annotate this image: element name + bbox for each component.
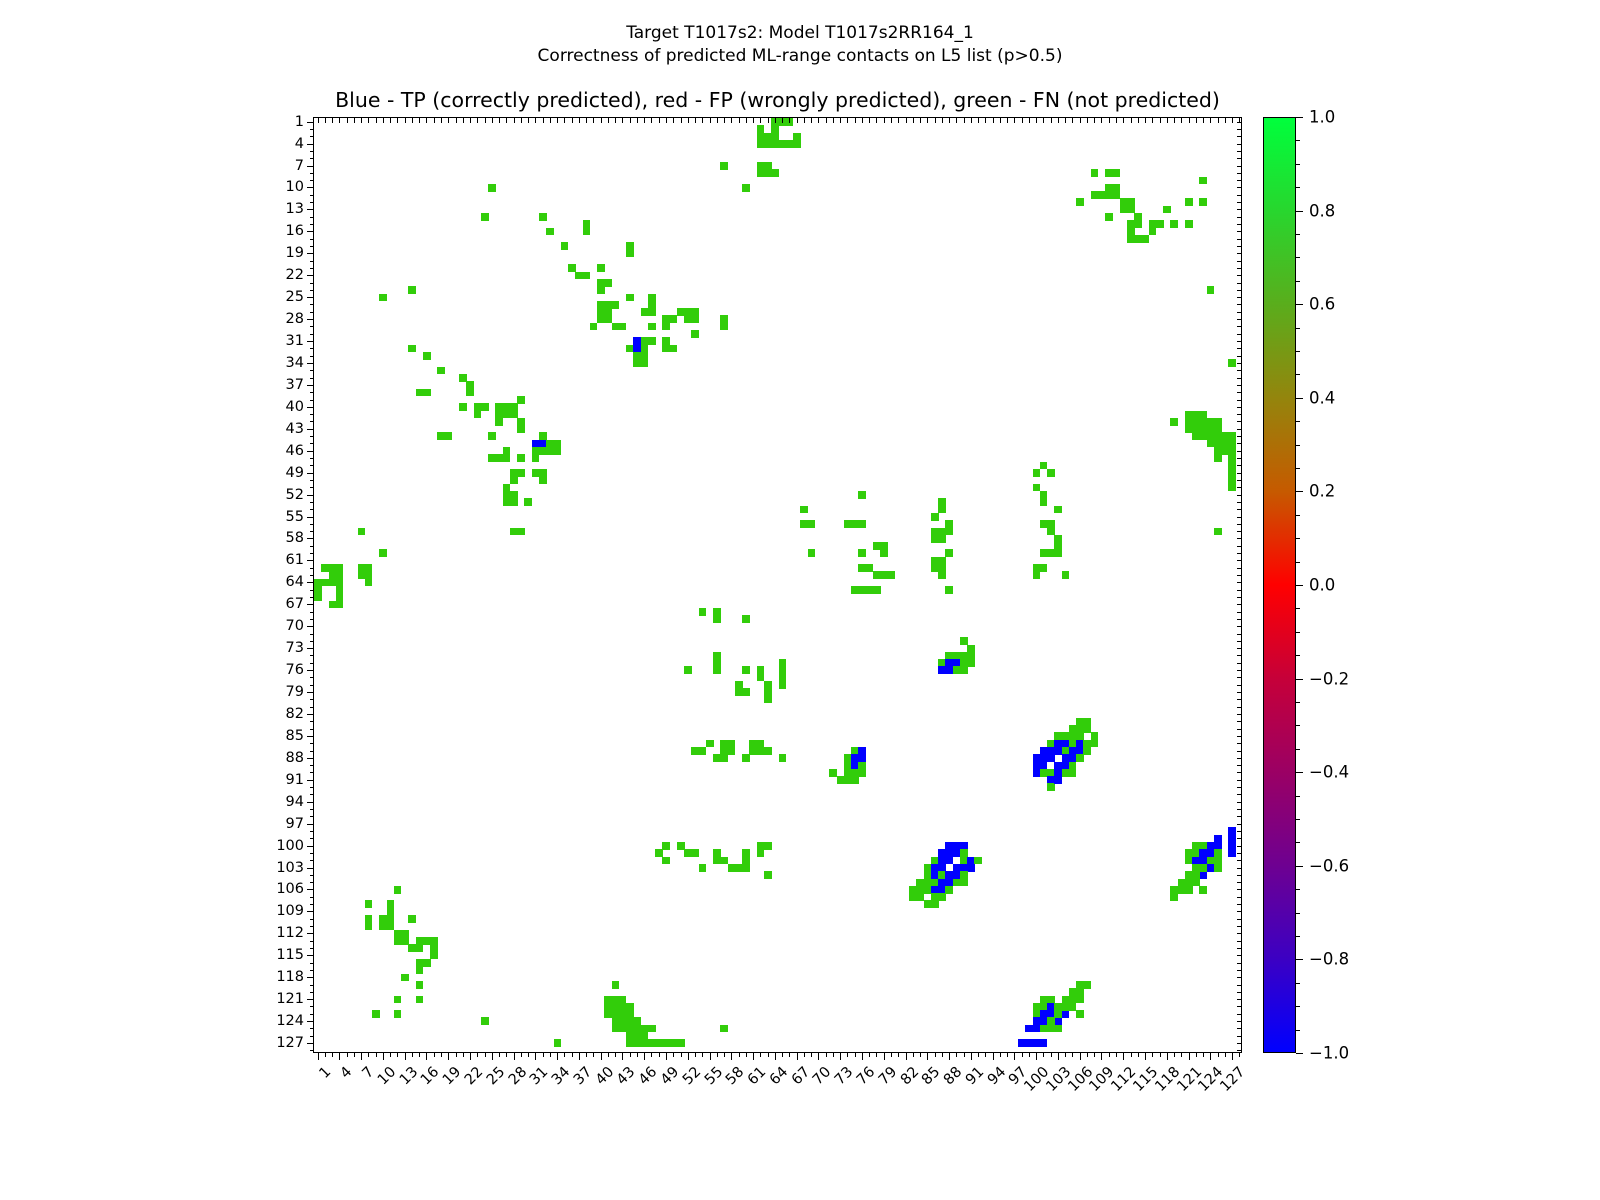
x-tick-mark [477,1052,478,1057]
x-tick-mark [717,1052,718,1057]
y-tick-mark [310,436,315,437]
contact-cell [1083,747,1091,755]
right-tick-mark [1237,597,1242,598]
top-tick-mark [405,118,406,123]
top-tick-mark [543,118,544,123]
contact-cell [416,966,424,974]
y-tick-mark [310,239,315,240]
contact-cell [691,315,699,323]
contact-cell [517,425,525,433]
y-tick-label: 76 [286,662,304,678]
right-tick-mark [1237,326,1242,327]
contact-cell [466,389,474,397]
y-tick-label: 7 [295,158,304,174]
axes-legend-title: Blue - TP (correctly predicted), red - F… [313,88,1242,112]
y-tick-mark [310,970,315,971]
y-tick-mark [310,421,315,422]
y-tick-mark [307,341,315,342]
x-tick-mark [499,1052,500,1057]
contact-cell [858,491,866,499]
right-tick-mark [1237,341,1242,342]
top-tick-mark [731,118,732,123]
y-tick-mark [310,765,315,766]
x-tick-mark [579,1052,580,1060]
x-tick-mark [775,1052,776,1060]
x-tick-mark [913,1052,914,1057]
right-tick-mark [1237,195,1242,196]
contact-cell [437,367,445,375]
colorbar-tick-label: −0.8 [1309,950,1349,969]
x-tick-mark [332,1052,333,1057]
top-tick-mark [1080,118,1081,123]
top-tick-mark [550,118,551,123]
y-tick-mark [307,846,315,847]
x-tick-mark [1145,1052,1146,1060]
x-tick-mark [543,1052,544,1057]
contact-cell [967,652,975,660]
y-tick-mark [307,626,315,627]
x-tick-mark [463,1052,464,1057]
top-tick-mark [434,118,435,123]
top-tick-mark [710,118,711,123]
y-tick-mark [310,246,315,247]
contact-cell [938,893,946,901]
contact-cell [408,915,416,923]
y-tick-mark [310,509,315,510]
y-tick-label: 19 [286,245,304,261]
top-tick-mark [985,118,986,123]
contact-cell [517,454,525,462]
right-tick-mark [1237,407,1242,408]
x-tick-mark [862,1052,863,1060]
x-tick-mark [514,1052,515,1060]
y-tick-label: 49 [286,465,304,481]
x-tick-label: 37 [571,1064,595,1088]
colorbar-minor-tick-mark [1296,1030,1300,1031]
contact-cell [749,747,757,755]
right-tick-mark [1237,787,1242,788]
contact-cell [561,242,569,250]
contact-cell [1170,418,1178,426]
x-tick-mark [1138,1052,1139,1057]
colorbar-minor-tick-mark [1296,164,1300,165]
right-tick-mark [1237,634,1242,635]
y-tick-mark [307,977,315,978]
contact-cell [546,228,554,236]
contact-cell [1228,469,1236,477]
contact-cell [1214,864,1222,872]
colorbar-minor-tick-mark [1296,913,1300,914]
contact-cell [742,666,750,674]
y-tick-label: 40 [286,399,304,415]
top-tick-mark [564,118,565,123]
contact-cell [742,184,750,192]
colorbar-minor-tick-mark [1296,515,1300,516]
contact-cell [648,1025,656,1033]
y-tick-label: 22 [286,267,304,283]
y-tick-mark [307,231,315,232]
top-tick-mark [448,118,449,123]
y-tick-label: 94 [286,794,304,810]
right-tick-mark [1237,231,1242,232]
right-tick-mark [1237,473,1242,474]
right-tick-mark [1237,714,1242,715]
top-tick-mark [1203,118,1204,123]
x-tick-mark [644,1052,645,1060]
y-tick-mark [310,1036,315,1037]
x-tick-mark [884,1052,885,1060]
colorbar-minor-tick-mark [1296,842,1300,843]
y-tick-mark [310,378,315,379]
contact-cell [394,996,402,1004]
contact-cell [1062,571,1070,579]
contact-cell [1199,864,1207,872]
colorbar-tick-mark [1296,866,1303,867]
y-tick-mark [307,1043,315,1044]
x-tick-mark [935,1052,936,1057]
y-tick-mark [310,224,315,225]
right-tick-mark [1237,941,1242,942]
top-tick-mark [1167,118,1168,123]
x-tick-label: 34 [549,1064,573,1088]
top-tick-mark [637,118,638,123]
top-tick-mark [1218,118,1219,123]
contact-cell [1076,754,1084,762]
contact-cell [387,922,395,930]
contact-cell [793,140,801,148]
y-tick-mark [310,838,315,839]
contact-cell [670,315,678,323]
top-tick-mark [724,118,725,123]
contact-cell [1062,1010,1070,1018]
x-tick-mark [405,1052,406,1060]
contact-cell [423,352,431,360]
contact-cell [858,762,866,770]
y-tick-label: 61 [286,552,304,568]
contact-cell [699,608,707,616]
contact-cell [481,403,489,411]
top-tick-mark [390,118,391,123]
y-tick-mark [310,392,315,393]
contact-cell [554,447,562,455]
y-tick-mark [310,875,315,876]
right-tick-mark [1237,794,1242,795]
right-tick-mark [1237,948,1242,949]
top-tick-mark [797,118,798,123]
y-tick-mark [310,356,315,357]
colorbar-minor-tick-mark [1296,796,1300,797]
contact-cell [779,681,787,689]
top-tick-mark [935,118,936,123]
contact-cell [1170,220,1178,228]
right-tick-mark [1237,312,1242,313]
y-tick-mark [307,144,315,145]
x-tick-mark [985,1052,986,1057]
y-tick-label: 1 [295,114,304,130]
contact-cell [612,981,620,989]
contact-cell [314,586,322,594]
right-tick-mark [1237,187,1242,188]
contact-cell [771,169,779,177]
top-tick-mark [659,118,660,123]
top-tick-mark [869,118,870,123]
right-tick-mark [1237,385,1242,386]
x-tick-mark [535,1052,536,1060]
top-tick-mark [746,118,747,123]
contact-cell [1047,1017,1055,1025]
y-tick-mark [310,772,315,773]
right-tick-mark [1237,670,1242,671]
y-tick-mark [310,831,315,832]
x-tick-mark [702,1052,703,1057]
right-tick-mark [1237,824,1242,825]
top-tick-mark [368,118,369,123]
top-tick-mark [717,118,718,123]
colorbar-minor-tick-mark [1296,328,1300,329]
y-tick-mark [307,604,315,605]
x-tick-mark [804,1052,805,1057]
colorbar-minor-tick-mark [1296,140,1300,141]
x-tick-mark [811,1052,812,1057]
top-tick-mark [681,118,682,123]
contact-cell [1040,1039,1048,1047]
y-tick-mark [307,209,315,210]
y-tick-label: 64 [286,574,304,590]
contact-cell [670,345,678,353]
x-tick-mark [1196,1052,1197,1057]
x-tick-mark [760,1052,761,1057]
right-tick-mark [1237,955,1242,956]
contact-cell [423,389,431,397]
y-tick-mark [310,816,315,817]
x-tick-mark [978,1052,979,1057]
y-tick-mark [310,677,315,678]
y-tick-mark [310,348,315,349]
y-tick-mark [310,597,315,598]
y-tick-mark [310,794,315,795]
x-tick-label: 10 [375,1064,399,1088]
right-tick-mark [1237,509,1242,510]
right-tick-mark [1237,685,1242,686]
x-tick-mark [1043,1052,1044,1057]
colorbar-minor-tick-mark [1296,351,1300,352]
top-tick-mark [593,118,594,123]
y-tick-label: 106 [276,881,304,897]
right-tick-mark [1237,963,1242,964]
colorbar-minor-tick-mark [1296,983,1300,984]
y-tick-label: 70 [286,618,304,634]
contact-matrix-cells [314,118,1241,1052]
right-tick-mark [1237,136,1242,137]
colorbar-tick-mark [1296,585,1303,586]
contact-cell [517,528,525,536]
y-tick-mark [307,911,315,912]
right-tick-mark [1237,604,1242,605]
x-tick-mark [339,1052,340,1060]
colorbar-minor-tick-mark [1296,538,1300,539]
right-tick-mark [1237,283,1242,284]
contact-cell [648,308,656,316]
contact-cell [1076,996,1084,1004]
right-tick-mark [1237,370,1242,371]
y-tick-label: 37 [286,377,304,393]
contact-cell [554,1039,562,1047]
top-tick-mark [826,118,827,123]
right-tick-mark [1237,224,1242,225]
right-tick-mark [1237,641,1242,642]
contact-cell [1156,220,1164,228]
colorbar-tick-label: 0.2 [1309,482,1335,501]
top-tick-mark [927,118,928,123]
x-tick-mark [637,1052,638,1057]
top-tick-mark [971,118,972,123]
y-tick-mark [310,1006,315,1007]
x-tick-label: 52 [680,1064,704,1088]
y-tick-mark [310,304,315,305]
contact-cell [358,528,366,536]
contact-cell [851,769,859,777]
contact-cell [336,601,344,609]
x-tick-mark [550,1052,551,1057]
figure-title-block: Target T1017s2: Model T1017s2RR164_1 Cor… [0,22,1600,68]
colorbar-minor-tick-mark [1296,632,1300,633]
x-tick-mark [898,1052,899,1057]
right-tick-mark [1237,253,1242,254]
colorbar-minor-tick-mark [1296,889,1300,890]
right-tick-mark [1237,758,1242,759]
right-tick-mark [1237,268,1242,269]
colorbar-minor-tick-mark [1296,655,1300,656]
x-tick-mark [318,1052,319,1060]
top-tick-mark [789,118,790,123]
top-tick-mark [485,118,486,123]
contact-cell [967,659,975,667]
contact-cell [764,871,772,879]
x-tick-mark [1160,1052,1161,1057]
x-tick-mark [1000,1052,1001,1057]
right-tick-mark [1237,1021,1242,1022]
top-tick-mark [586,118,587,123]
right-tick-mark [1237,626,1242,627]
y-tick-mark [310,985,315,986]
top-tick-mark [622,118,623,123]
contact-cell [1163,206,1171,214]
contact-cell [481,213,489,221]
right-tick-mark [1237,1006,1242,1007]
x-tick-mark [1174,1052,1175,1057]
contact-cell [808,520,816,528]
y-tick-mark [310,721,315,722]
contact-cell [394,937,402,945]
right-tick-mark [1237,166,1242,167]
contact-cell [764,747,772,755]
x-tick-mark [1022,1052,1023,1057]
y-tick-mark [307,648,315,649]
contact-cell [1054,1025,1062,1033]
top-tick-mark [775,118,776,123]
contact-cell [1207,286,1215,294]
right-tick-mark [1237,919,1242,920]
contact-cell [1069,769,1077,777]
y-tick-label: 100 [276,838,304,854]
top-tick-mark [383,118,384,123]
contact-cell [517,396,525,404]
top-tick-mark [942,118,943,123]
y-tick-mark [307,407,315,408]
contact-cell [742,615,750,623]
right-tick-mark [1237,1050,1242,1051]
contact-cell [503,454,511,462]
y-tick-mark [307,297,315,298]
contact-cell [1083,981,1091,989]
x-tick-mark [1218,1052,1219,1057]
contact-cell [691,330,699,338]
x-tick-mark [1058,1052,1059,1060]
right-tick-mark [1237,1043,1242,1044]
colorbar-tick-mark [1296,959,1303,960]
top-tick-mark [891,118,892,123]
top-tick-mark [1131,118,1132,123]
y-tick-mark [307,495,315,496]
y-tick-label: 31 [286,333,304,349]
colorbar-tick-label: 0.8 [1309,201,1335,220]
y-tick-mark [310,326,315,327]
colorbar-tick-mark [1296,304,1303,305]
y-tick-mark [307,451,315,452]
top-tick-mark [572,118,573,123]
figure-title-line-1: Target T1017s2: Model T1017s2RR164_1 [0,22,1600,45]
top-tick-mark [318,118,319,123]
top-tick-mark [753,118,754,123]
top-tick-mark [804,118,805,123]
right-tick-mark [1237,202,1242,203]
y-tick-mark [307,319,315,320]
y-tick-label: 118 [276,969,304,985]
top-tick-mark [673,118,674,123]
y-tick-mark [310,612,315,613]
y-tick-mark [310,400,315,401]
contact-cell [873,586,881,594]
y-tick-mark [310,948,315,949]
y-tick-mark [310,370,315,371]
contact-cell [662,842,670,850]
y-tick-mark [310,992,315,993]
top-tick-mark [376,118,377,123]
contact-cell [960,659,968,667]
right-tick-mark [1237,151,1242,152]
contact-cell [953,666,961,674]
x-tick-mark [710,1052,711,1060]
contact-cell [1105,213,1113,221]
top-tick-mark [579,118,580,123]
x-tick-mark [419,1052,420,1057]
x-tick-label: 64 [767,1064,791,1088]
top-tick-mark [557,118,558,123]
right-tick-mark [1237,158,1242,159]
y-tick-mark [310,458,315,459]
x-tick-mark [789,1052,790,1057]
right-tick-mark [1237,772,1242,773]
top-tick-mark [601,118,602,123]
contact-cell [1047,469,1055,477]
colorbar-minor-tick-mark [1296,608,1300,609]
contact-cell [1199,198,1207,206]
y-tick-mark [310,202,315,203]
x-tick-mark [608,1052,609,1057]
contact-cell [648,323,656,331]
top-tick-mark [811,118,812,123]
right-tick-mark [1237,363,1242,364]
